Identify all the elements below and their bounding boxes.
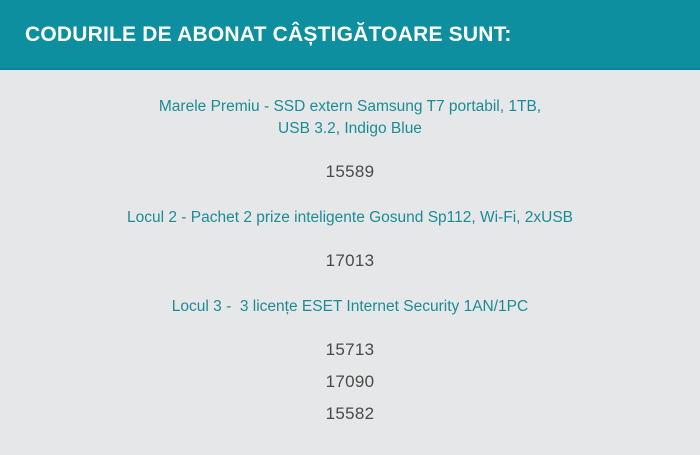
winning-codes-third-place: 15713 17090 15582: [326, 338, 375, 425]
prize-description-2: Locul 2 - Pachet 2 prize inteligente Gos…: [127, 207, 573, 229]
header-band: CODURILE DE ABONAT CÂȘTIGĂTOARE SUNT:: [0, 0, 700, 70]
winning-code-third-place-3: 15582: [326, 402, 375, 425]
winning-code-third-place-1: 15713: [326, 338, 375, 361]
prize-description-3: Locul 3 - 3 licențe ESET Internet Securi…: [172, 296, 528, 318]
page-title: CODURILE DE ABONAT CÂȘTIGĂTOARE SUNT:: [25, 24, 512, 45]
winners-announcement-poster: CODURILE DE ABONAT CÂȘTIGĂTOARE SUNT: Ma…: [0, 0, 700, 455]
prize-list: Marele Premiu - SSD extern Samsung T7 po…: [0, 70, 700, 455]
winning-code-third-place-2: 17090: [326, 370, 375, 393]
winning-code-second-place: 17013: [326, 249, 375, 272]
prize-description-1: Marele Premiu - SSD extern Samsung T7 po…: [159, 96, 541, 140]
winning-code-grand-prize: 15589: [326, 160, 375, 183]
